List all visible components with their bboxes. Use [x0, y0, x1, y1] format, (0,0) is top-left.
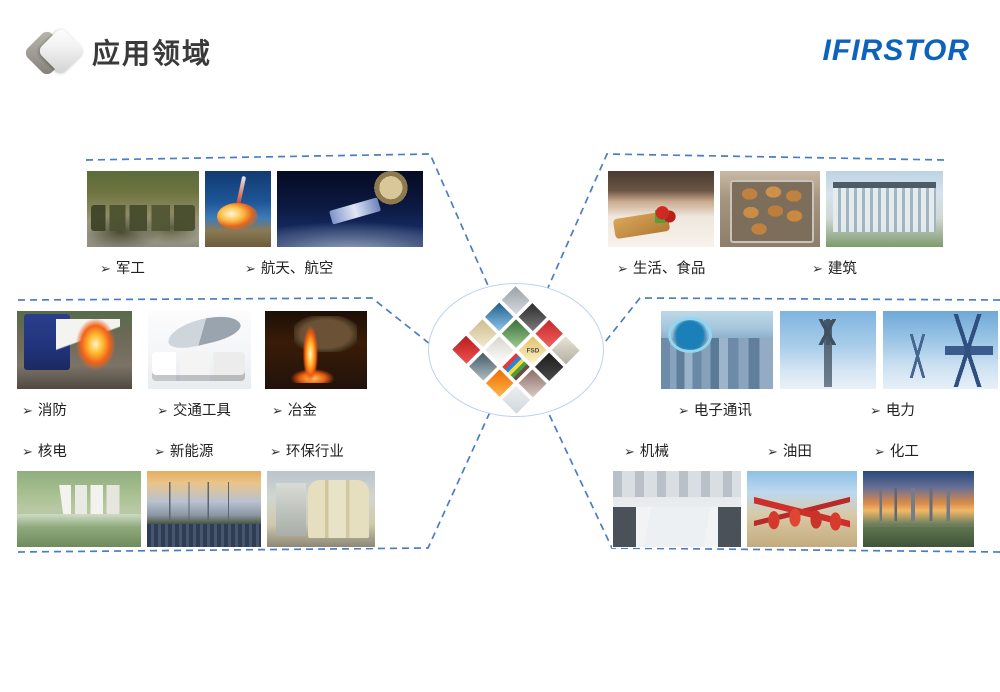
label-transport: ➢交通工具: [157, 399, 231, 420]
group-bottom-right: ➢机械 ➢油田 ➢化工: [612, 440, 977, 548]
satellite-space-photo: [276, 170, 424, 248]
label-text: 冶金: [288, 403, 317, 419]
label-oilfield: ➢油田: [767, 440, 812, 461]
label-new-energy: ➢新能源: [154, 440, 213, 461]
group-top-left: ➢军工 ➢航天、航空: [86, 170, 426, 279]
group-bottom-left: ➢核电 ➢新能源 ➢环保行业: [16, 440, 376, 548]
label-row: ➢核电 ➢新能源 ➢环保行业: [16, 440, 376, 462]
plane-trucks-photo: [147, 310, 252, 390]
label-power: ➢电力: [870, 399, 915, 420]
slide-root: 应用领域 IFIRSTOR F: [0, 0, 1000, 692]
label-row: ➢军工 ➢航天、航空: [86, 257, 426, 279]
label-metallurgy: ➢冶金: [272, 399, 317, 420]
bullet-icon: ➢: [767, 444, 778, 459]
label-text: 军工: [116, 261, 145, 277]
fire-blanket-photo: [16, 310, 133, 390]
bullet-icon: ➢: [874, 444, 885, 459]
group-mid-right: ➢电子通讯 ➢电力: [660, 310, 1000, 421]
label-military: ➢军工: [100, 257, 145, 278]
brand-wordmark: IFIRSTOR: [823, 34, 970, 68]
label-text: 油田: [783, 444, 812, 460]
label-row: ➢消防 ➢交通工具 ➢冶金: [16, 399, 372, 421]
label-text: 电力: [886, 403, 915, 419]
bullet-icon: ➢: [100, 261, 111, 276]
label-aerospace: ➢航天、航空: [245, 257, 333, 278]
label-text: 交通工具: [173, 403, 231, 419]
nuclear-plant-photo: [16, 470, 142, 548]
label-text: 电子通讯: [694, 403, 752, 419]
label-machinery: ➢机械: [624, 440, 669, 461]
baking-croissants-photo: [719, 170, 821, 248]
factory-machinery-photo: [612, 470, 742, 548]
label-row: ➢生活、食品 ➢建筑: [607, 257, 944, 279]
group-mid-left: ➢消防 ➢交通工具 ➢冶金: [16, 310, 372, 421]
power-lines-photo: [882, 310, 999, 390]
kitchen-food-photo: [607, 170, 715, 248]
label-text: 化工: [890, 444, 919, 460]
group-top-right: ➢生活、食品 ➢建筑: [607, 170, 944, 279]
bullet-icon: ➢: [22, 444, 33, 459]
label-environmental: ➢环保行业: [270, 440, 344, 461]
bullet-icon: ➢: [870, 403, 881, 418]
image-row: [86, 170, 426, 248]
bullet-icon: ➢: [270, 444, 281, 459]
label-chemical: ➢化工: [874, 440, 919, 461]
bullet-icon: ➢: [272, 403, 283, 418]
oilfield-pumpjacks-photo: [746, 470, 858, 548]
modern-building-photo: [825, 170, 944, 248]
label-firefighting: ➢消防: [22, 399, 67, 420]
page-title: 应用领域: [92, 32, 212, 72]
molten-metal-photo: [264, 310, 368, 390]
label-text: 航天、航空: [261, 261, 334, 277]
label-nuclear: ➢核电: [22, 440, 67, 461]
bullet-icon: ➢: [245, 261, 256, 276]
missile-launch-photo: [204, 170, 272, 248]
bullet-icon: ➢: [624, 444, 635, 459]
label-text: 生活、食品: [633, 261, 706, 277]
cell-tower-photo: [779, 310, 877, 390]
label-text: 核电: [38, 444, 67, 460]
label-row: ➢机械 ➢油田 ➢化工: [612, 440, 977, 462]
label-text: 环保行业: [286, 444, 344, 460]
label-life-food: ➢生活、食品: [617, 257, 705, 278]
image-row: [612, 470, 977, 548]
double-diamond-logo-icon: [28, 26, 90, 80]
hub-fsd-label: FSD: [523, 340, 543, 360]
chemical-refinery-photo: [862, 470, 975, 548]
wind-farm-photo: [146, 470, 263, 548]
label-text: 机械: [640, 444, 669, 460]
environmental-scrubber-photo: [266, 470, 376, 548]
slide-header: 应用领域 IFIRSTOR: [0, 0, 1000, 100]
military-tanks-photo: [86, 170, 200, 248]
image-row: [16, 470, 376, 548]
label-row: ➢电子通讯 ➢电力: [660, 399, 1000, 421]
bullet-icon: ➢: [617, 261, 628, 276]
bullet-icon: ➢: [812, 261, 823, 276]
5g-city-photo: [660, 310, 774, 390]
image-row: [16, 310, 372, 390]
bullet-icon: ➢: [678, 403, 689, 418]
bullet-icon: ➢: [154, 444, 165, 459]
image-row: [660, 310, 1000, 390]
bullet-icon: ➢: [157, 403, 168, 418]
label-construction: ➢建筑: [812, 257, 857, 278]
center-hub: FSD: [428, 283, 604, 417]
bullet-icon: ➢: [22, 403, 33, 418]
label-text: 建筑: [828, 261, 857, 277]
image-row: [607, 170, 944, 248]
label-electronics-comm: ➢电子通讯: [678, 399, 752, 420]
label-text: 消防: [38, 403, 67, 419]
label-text: 新能源: [170, 444, 214, 460]
